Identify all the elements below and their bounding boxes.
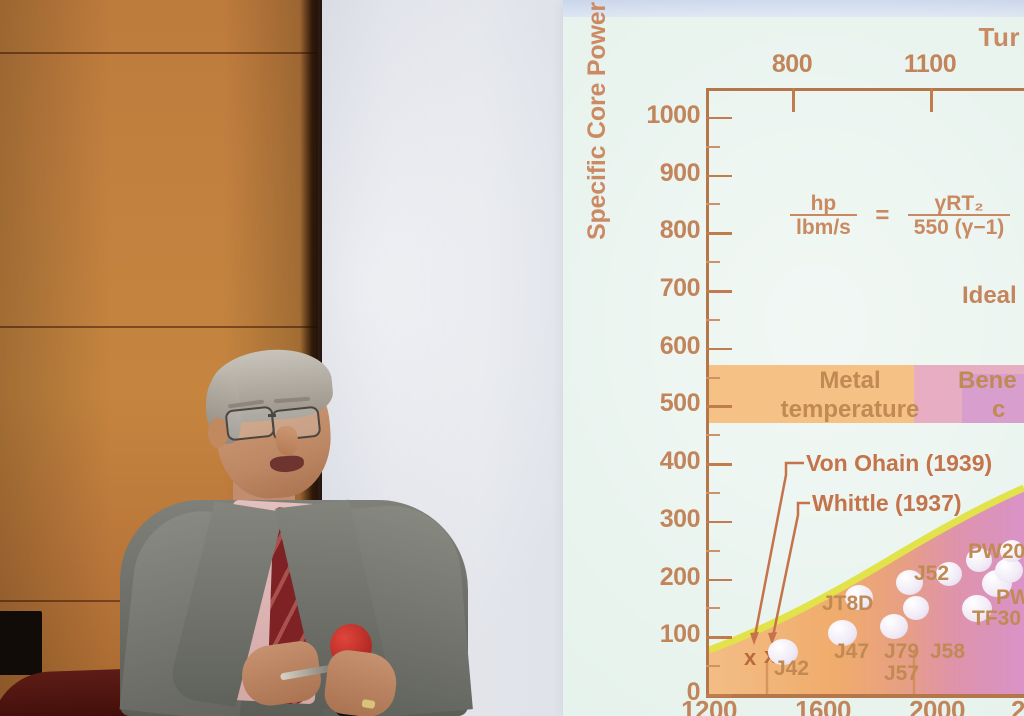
y-axis-tick-label: 900 [622, 159, 700, 188]
slide-title: Tur [979, 22, 1020, 53]
data-point-marker [903, 596, 929, 620]
y-axis-minor-tick [706, 377, 720, 379]
y-axis-tick-label: 200 [622, 563, 700, 592]
wall-seam [0, 326, 318, 328]
y-axis-tick [706, 348, 732, 351]
equation-rhs-numerator: γRT₂ [929, 192, 990, 215]
y-axis-minor-tick [706, 665, 720, 667]
y-axis-tick [706, 405, 732, 408]
x-axis-top-tick [792, 88, 795, 112]
engine-label: J47 [834, 640, 869, 664]
y-axis-tick [706, 521, 732, 524]
annotation-whittle: Whittle (1937) [812, 490, 962, 517]
engine-label: J79 [884, 640, 919, 664]
engine-label: J42 [774, 657, 809, 681]
engine-label: J57 [884, 662, 919, 686]
engine-label: JT8D [822, 592, 873, 616]
monitor-screen [0, 611, 42, 675]
chart-axis-top [706, 88, 1024, 91]
engine-label: J52 [914, 562, 949, 586]
y-axis-tick-label: 100 [622, 620, 700, 649]
y-axis-tick-label: 400 [622, 447, 700, 476]
x-axis-bottom-tick-label: 2 [1011, 695, 1024, 716]
slide-top-band [563, 0, 1024, 17]
y-axis-title: Specific Core Power [hp/(lbm/s)] [583, 0, 612, 240]
engine-label: TF30 [972, 607, 1021, 631]
annotation-leader-lines [740, 455, 830, 665]
equation-lhs-denominator: lbm/s [790, 214, 857, 239]
y-axis-tick-label: 600 [622, 332, 700, 361]
eyeglasses-lens-left [225, 406, 276, 442]
eyeglasses-bridge [268, 414, 276, 417]
y-axis-minor-tick [706, 607, 720, 609]
screenshot-root: Tur Metaltemperature Benec 0100200300400… [0, 0, 1024, 716]
y-axis-tick-label: 700 [622, 274, 700, 303]
y-axis-tick [706, 636, 732, 639]
y-axis-minor-tick [706, 434, 720, 436]
ideal-label: Ideal [962, 282, 1017, 310]
y-axis-tick [706, 175, 732, 178]
wall-seam [0, 52, 318, 54]
data-point-marker [880, 614, 908, 639]
y-axis-tick [706, 579, 732, 582]
speaker [130, 352, 470, 716]
x-axis-top-tick [930, 88, 933, 112]
x-axis-bottom-tick-label: 2000 [909, 695, 965, 716]
y-axis-tick [706, 232, 732, 235]
engine-label: PW20 [968, 540, 1024, 564]
y-axis-tick-label: 500 [622, 389, 700, 418]
x-marker-1: x [744, 645, 756, 671]
x-axis-bottom-tick-label: 1600 [795, 695, 851, 716]
x-axis-bottom-tick-label: 1200 [681, 695, 737, 716]
y-axis-tick [706, 463, 732, 466]
equation: hp lbm/s = γRT₂ 550 (γ−1) [790, 192, 1010, 240]
y-axis-minor-tick [706, 203, 720, 205]
y-axis-minor-tick [706, 319, 720, 321]
equation-rhs-denominator: 550 (γ−1) [908, 214, 1010, 239]
equation-rhs: γRT₂ 550 (γ−1) [908, 192, 1010, 240]
y-axis-minor-tick [706, 492, 720, 494]
y-axis-tick-label: 300 [622, 505, 700, 534]
y-axis-tick-label: 800 [622, 216, 700, 245]
y-axis-tick [706, 117, 732, 120]
y-axis-minor-tick [706, 261, 720, 263]
chart-axis-bottom [706, 694, 1024, 698]
equation-lhs-numerator: hp [805, 192, 843, 215]
equation-equals-sign: = [861, 202, 903, 230]
y-axis-minor-tick [706, 146, 720, 148]
equation-lhs: hp lbm/s [790, 192, 857, 240]
engine-label: J58 [930, 640, 965, 664]
y-axis-minor-tick [706, 550, 720, 552]
x-axis-top-tick-label: 800 [772, 50, 812, 79]
annotation-von-ohain: Von Ohain (1939) [806, 450, 992, 477]
y-axis-tick [706, 290, 732, 293]
x-axis-top-tick-label: 1100 [904, 50, 956, 79]
y-axis-tick-label: 1000 [622, 101, 700, 130]
